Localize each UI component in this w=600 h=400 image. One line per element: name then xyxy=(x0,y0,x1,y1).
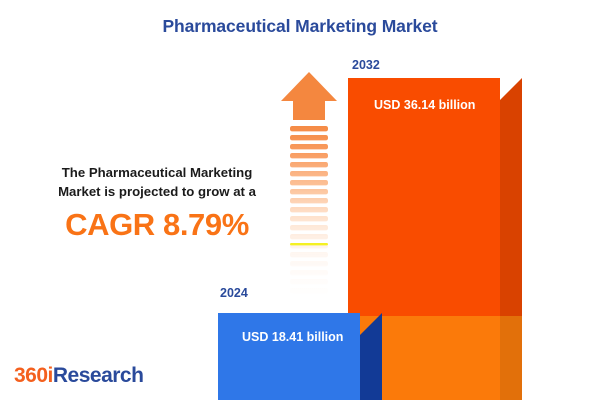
cagr-callout: The Pharmaceutical Marketing Market is p… xyxy=(22,163,292,243)
cagr-value: CAGR 8.79% xyxy=(22,207,292,243)
bar-2032-year-label: 2032 xyxy=(352,58,380,72)
page-title: Pharmaceutical Marketing Market xyxy=(0,16,600,37)
arrow-head xyxy=(281,72,337,120)
bar-2032-side-face-upper xyxy=(500,78,522,316)
infographic-canvas: Pharmaceutical Marketing Market The Phar… xyxy=(0,0,600,400)
bar-2024-front-face xyxy=(218,313,360,400)
brand-logo: 360iResearch xyxy=(14,364,143,388)
bar-2032-value-label: USD 36.14 billion xyxy=(374,98,475,112)
up-arrow-icon xyxy=(280,70,340,298)
brand-logo-360i: 360i xyxy=(14,364,53,387)
bar-2024-year-label: 2024 xyxy=(220,286,248,300)
arrow-highlight-stripe xyxy=(290,243,328,245)
caption-line-2: Market is projected to grow at a xyxy=(22,182,292,201)
arrow-shaft-stripes xyxy=(280,120,340,298)
bar-2024-value-label: USD 18.41 billion xyxy=(242,330,343,344)
caption-line-1: The Pharmaceutical Marketing xyxy=(22,163,292,182)
bar-2032-side-face-lower xyxy=(500,316,522,400)
bar-2032-front-face-upper xyxy=(348,78,500,316)
brand-logo-research: Research xyxy=(53,364,144,387)
